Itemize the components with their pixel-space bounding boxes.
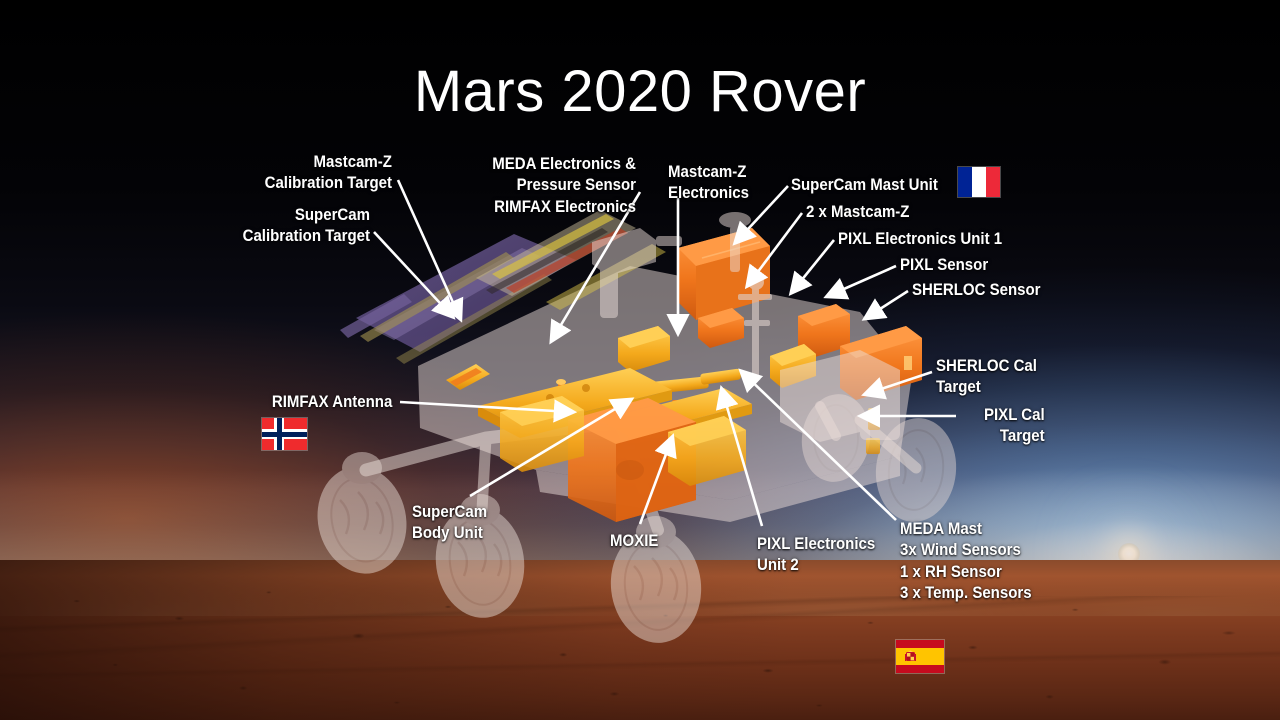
callout-rimfax-antenna: RIMFAX Antenna (272, 392, 392, 413)
callout-pixl-sensor: PIXL Sensor (900, 255, 988, 276)
callout-pixl-cal-target: PIXL Cal Target (984, 405, 1045, 448)
flag-norway-icon (262, 418, 307, 450)
callout-meda-electronics: MEDA Electronics & Pressure Sensor RIMFA… (492, 154, 636, 218)
callout-meda-mast: MEDA Mast 3x Wind Sensors 1 x RH Sensor … (900, 519, 1032, 605)
callout-supercam-calibration-target: SuperCam Calibration Target (243, 205, 370, 248)
callout-supercam-body-unit: SuperCam Body Unit (412, 502, 487, 545)
spain-coat-of-arms-icon (905, 650, 916, 664)
mars-2020-rover-infographic: Mars 2020 Rover Mastcam-Z Calibration Ta… (0, 0, 1280, 720)
callout-supercam-mast-unit: SuperCam Mast Unit (791, 175, 938, 196)
page-title: Mars 2020 Rover (0, 58, 1280, 125)
callout-pixl-electronics-unit-2: PIXL Electronics Unit 2 (757, 534, 875, 577)
callout-mastcam-z-electronics: Mastcam-Z Electronics (668, 162, 749, 205)
callout-mastcam-z-calibration-target: Mastcam-Z Calibration Target (265, 152, 392, 195)
callout-sherloc-sensor: SHERLOC Sensor (912, 280, 1040, 301)
pixl-cal-target-part (866, 438, 880, 454)
flag-spain-icon (896, 640, 944, 673)
callout-pixl-electronics-unit-1: PIXL Electronics Unit 1 (838, 229, 1002, 250)
flag-france-icon (958, 167, 1000, 197)
callout-sherloc-cal-target: SHERLOC Cal Target (936, 356, 1037, 399)
callout-2x-mastcam-z: 2 x Mastcam-Z (806, 202, 909, 223)
callout-moxie: MOXIE (610, 531, 658, 552)
